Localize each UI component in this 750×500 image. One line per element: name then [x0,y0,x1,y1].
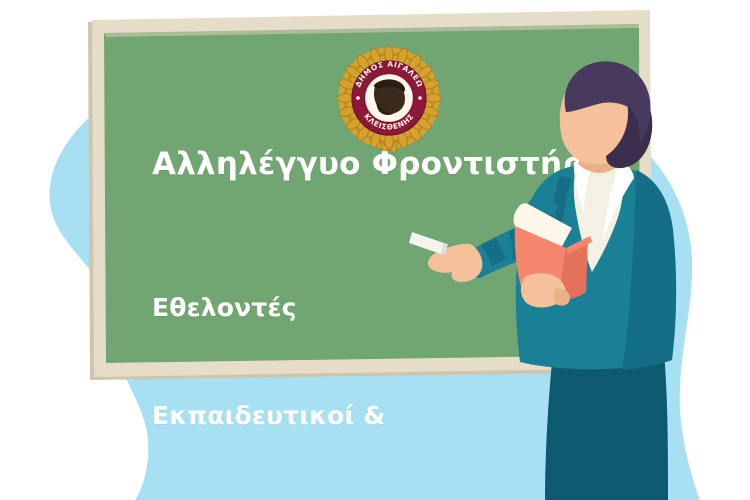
chalk-icon [409,232,448,255]
teacher-skirt [545,352,668,500]
teacher-layer [0,0,750,500]
poster-canvas: ΔΗΜΟΣ ΑΙΓΑΛΕΩ ΚΛΕΙΣΘΕΝΗΣ Αλληλέγγυο Φρον… [0,0,750,500]
teacher-illustration [409,61,676,500]
